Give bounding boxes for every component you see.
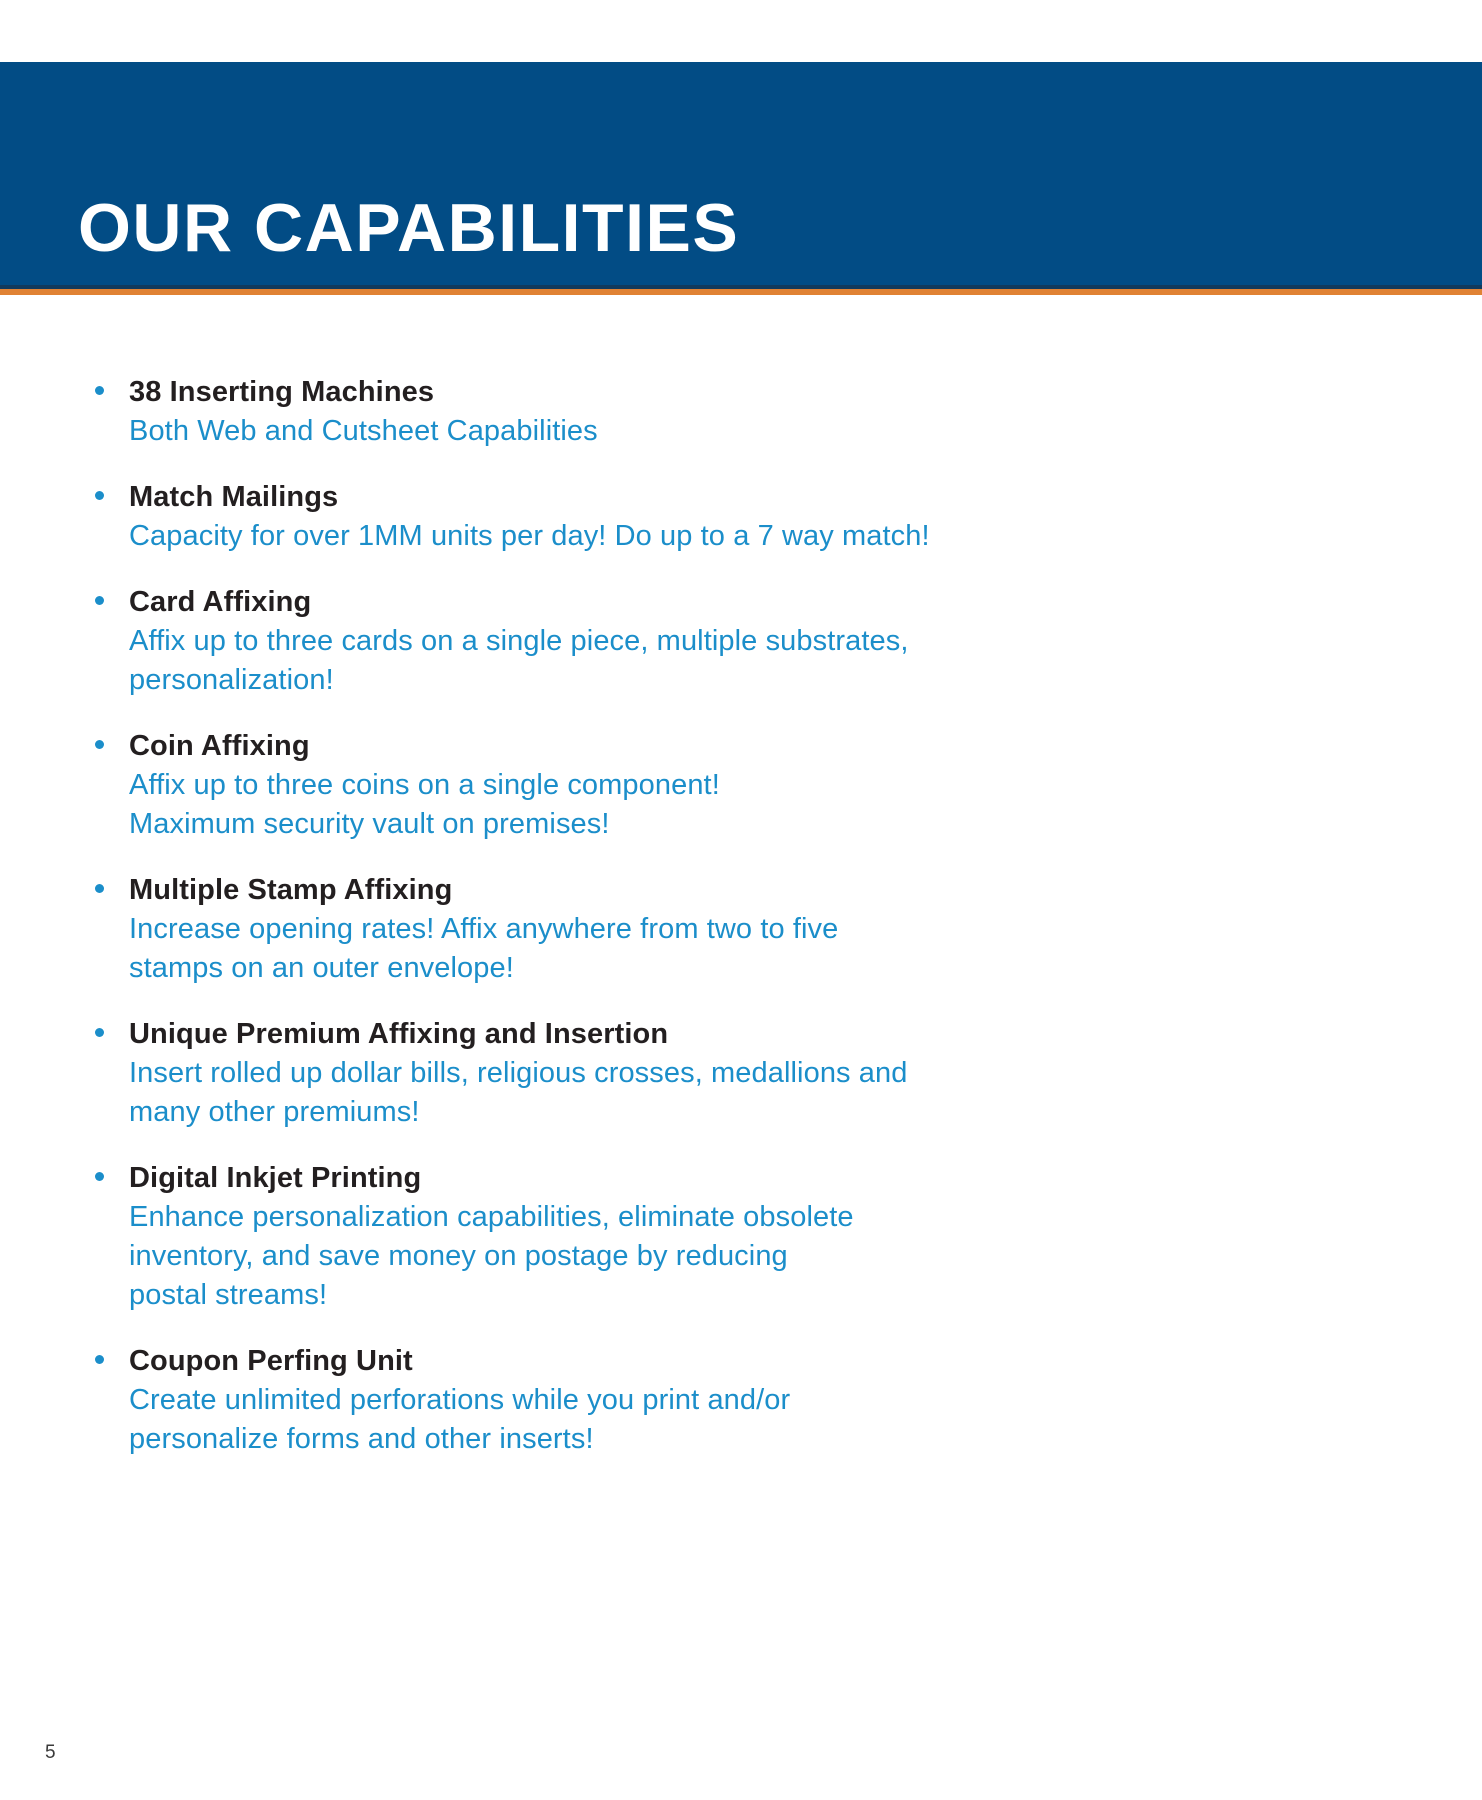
capability-description: Increase opening rates! Affix anywhere f… <box>0 910 1482 988</box>
bullet-icon <box>95 740 104 749</box>
capability-description-line: Affix up to three cards on a single piec… <box>129 622 1362 661</box>
bullet-icon <box>95 491 104 500</box>
capability-heading: Coupon Perfing Unit <box>0 1341 1482 1381</box>
capability-description-line: personalize forms and other inserts! <box>129 1420 1362 1459</box>
page-title: OUR CAPABILITIES <box>78 188 739 268</box>
capability-item: Match MailingsCapacity for over 1MM unit… <box>0 477 1482 556</box>
capability-item: Card AffixingAffix up to three cards on … <box>0 582 1482 700</box>
capability-description: Create unlimited perforations while you … <box>0 1381 1482 1459</box>
capability-description: Enhance personalization capabilities, el… <box>0 1198 1482 1315</box>
capability-item: Coin AffixingAffix up to three coins on … <box>0 726 1482 844</box>
capability-description: Affix up to three coins on a single comp… <box>0 766 1482 844</box>
capability-description-line: inventory, and save money on postage by … <box>129 1237 1362 1276</box>
capability-description-line: Increase opening rates! Affix anywhere f… <box>129 910 1362 949</box>
capability-item: 38 Inserting MachinesBoth Web and Cutshe… <box>0 372 1482 451</box>
capability-description-line: Create unlimited perforations while you … <box>129 1381 1362 1420</box>
capability-heading: 38 Inserting Machines <box>0 372 1482 412</box>
capability-item: Unique Premium Affixing and InsertionIns… <box>0 1014 1482 1132</box>
bullet-icon <box>95 596 104 605</box>
capability-description-line: personalization! <box>129 661 1362 700</box>
capability-heading: Card Affixing <box>0 582 1482 622</box>
bullet-icon <box>95 1028 104 1037</box>
capability-heading: Digital Inkjet Printing <box>0 1158 1482 1198</box>
bullet-icon <box>95 884 104 893</box>
bullet-icon <box>95 1355 104 1364</box>
capability-description-line: Enhance personalization capabilities, el… <box>129 1198 1362 1237</box>
capability-heading: Unique Premium Affixing and Insertion <box>0 1014 1482 1054</box>
capability-heading: Coin Affixing <box>0 726 1482 766</box>
capabilities-list: 38 Inserting MachinesBoth Web and Cutshe… <box>0 372 1482 1485</box>
capability-description-line: postal streams! <box>129 1276 1362 1315</box>
capability-description: Both Web and Cutsheet Capabilities <box>0 412 1482 451</box>
capability-description-line: Insert rolled up dollar bills, religious… <box>129 1054 1362 1093</box>
capability-description: Insert rolled up dollar bills, religious… <box>0 1054 1482 1132</box>
header-banner: OUR CAPABILITIES <box>0 62 1482 285</box>
capability-description-line: many other premiums! <box>129 1093 1362 1132</box>
capability-description: Affix up to three cards on a single piec… <box>0 622 1482 700</box>
slide-canvas: OUR CAPABILITIES 38 Inserting MachinesBo… <box>0 0 1482 1800</box>
capability-item: Digital Inkjet PrintingEnhance personali… <box>0 1158 1482 1315</box>
capability-description-line: Maximum security vault on premises! <box>129 805 1362 844</box>
divider-orange <box>0 289 1482 295</box>
capability-description-line: Both Web and Cutsheet Capabilities <box>129 412 1362 451</box>
capability-heading: Match Mailings <box>0 477 1482 517</box>
capability-description-line: stamps on an outer envelope! <box>129 949 1362 988</box>
capability-heading: Multiple Stamp Affixing <box>0 870 1482 910</box>
page-number: 5 <box>45 1741 56 1765</box>
capability-description-line: Affix up to three coins on a single comp… <box>129 766 1362 805</box>
capability-item: Multiple Stamp AffixingIncrease opening … <box>0 870 1482 988</box>
bullet-icon <box>95 386 104 395</box>
bullet-icon <box>95 1172 104 1181</box>
capability-description: Capacity for over 1MM units per day! Do … <box>0 517 1482 556</box>
capability-description-line: Capacity for over 1MM units per day! Do … <box>129 517 1362 556</box>
capability-item: Coupon Perfing UnitCreate unlimited perf… <box>0 1341 1482 1459</box>
